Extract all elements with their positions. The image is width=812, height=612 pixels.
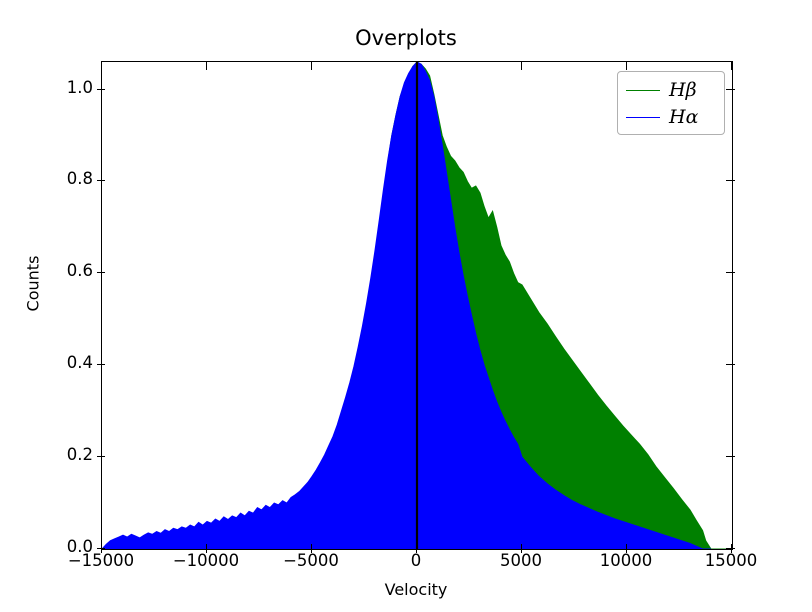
plot-svg <box>102 62 732 549</box>
legend-label: Hβ <box>669 81 697 100</box>
legend-line-swatch <box>626 117 660 118</box>
y-tick-mark <box>97 456 105 457</box>
chart-title: Overplots <box>0 26 812 50</box>
x-tick-mark-top <box>731 61 732 70</box>
x-tick-mark-top <box>311 61 312 70</box>
x-tick-mark-top <box>521 61 522 70</box>
x-tick-mark <box>206 544 207 553</box>
y-tick-label: 0.2 <box>33 447 93 464</box>
x-tick-mark <box>311 544 312 553</box>
x-tick-mark <box>521 544 522 553</box>
legend-label: Hα <box>669 108 698 127</box>
x-tick-mark <box>101 544 102 553</box>
x-tick-label: 5000 <box>461 553 581 570</box>
x-tick-label: 0 <box>356 553 476 570</box>
y-tick-mark-right <box>726 180 735 181</box>
y-axis-label: Counts <box>24 214 43 354</box>
y-tick-mark-right <box>726 272 735 273</box>
x-tick-mark <box>731 544 732 553</box>
y-tick-mark <box>97 364 105 365</box>
legend-item-hbeta[interactable]: Hβ <box>618 77 726 103</box>
y-tick-mark-right <box>726 456 735 457</box>
y-tick-label: 0.4 <box>33 355 93 372</box>
x-axis-label: Velocity <box>101 580 731 599</box>
x-tick-label: −15000 <box>41 553 161 570</box>
x-tick-mark-top <box>416 61 417 70</box>
x-tick-mark-top <box>626 61 627 70</box>
y-tick-label: 0.8 <box>33 171 93 188</box>
y-tick-label: 1.0 <box>33 80 93 97</box>
x-tick-label: 15000 <box>671 553 791 570</box>
y-tick-mark-right <box>726 364 735 365</box>
x-tick-mark <box>416 544 417 553</box>
x-tick-mark-top <box>101 61 102 70</box>
x-tick-label: −10000 <box>146 553 266 570</box>
y-tick-mark <box>97 180 105 181</box>
y-tick-mark <box>97 89 105 90</box>
chart-figure: Overplots 0.00.20.40.60.81.0 −15000−1000… <box>0 0 812 612</box>
y-tick-mark <box>97 272 105 273</box>
legend-item-halpha[interactable]: Hα <box>618 104 726 130</box>
x-tick-label: 10000 <box>566 553 686 570</box>
legend-line-swatch <box>626 90 660 91</box>
legend[interactable]: HβHα <box>617 71 725 135</box>
x-tick-mark-top <box>206 61 207 70</box>
y-tick-mark-right <box>726 89 735 90</box>
x-tick-mark <box>626 544 627 553</box>
x-tick-label: −5000 <box>251 553 371 570</box>
